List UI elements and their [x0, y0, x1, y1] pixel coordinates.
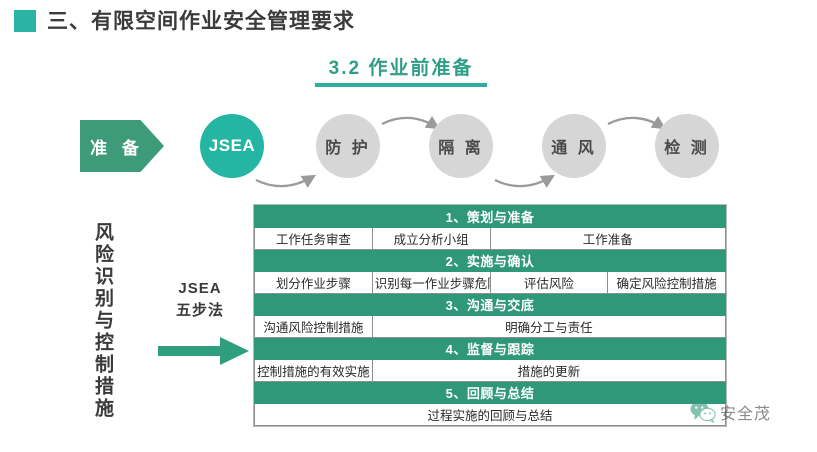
table-section-header-row: 4、监督与跟踪: [255, 338, 726, 360]
table-cell: 成立分析小组: [372, 228, 490, 250]
table-cell: 评估风险: [490, 272, 608, 294]
slide-canvas: 三、有限空间作业安全管理要求 3.2 作业前准备 准 备 JSEA 防 护 隔 …: [0, 0, 817, 452]
process-flow: 准 备 JSEA 防 护 隔 离 通 风 检 测: [0, 108, 817, 192]
table-cell: 沟通风险控制措施: [255, 316, 373, 338]
page-header: 三、有限空间作业安全管理要求: [14, 10, 355, 32]
table-row: 控制措施的有效实施措施的更新: [255, 360, 726, 382]
table-row: 工作任务审查成立分析小组工作准备: [255, 228, 726, 250]
table-row: 过程实施的回顾与总结: [255, 404, 726, 426]
curved-arrow-icon: [608, 118, 664, 128]
wechat-icon: [690, 401, 716, 423]
table-row: 沟通风险控制措施明确分工与责任: [255, 316, 726, 338]
right-arrow-icon: [158, 336, 250, 366]
table-cell: 控制措施的有效实施: [255, 360, 373, 382]
table-cell: 工作任务审查: [255, 228, 373, 250]
table-section-title: 3、沟通与交底: [255, 294, 726, 316]
subtitle-underline: [315, 83, 487, 87]
table-section-header-row: 5、回顾与总结: [255, 382, 726, 404]
table-row: 划分作业步骤识别每一作业步骤危险源评估风险确定风险控制措施: [255, 272, 726, 294]
table-section-title: 4、监督与跟踪: [255, 338, 726, 360]
table-cell: 确定风险控制措施: [608, 272, 726, 294]
table-section-title: 2、实施与确认: [255, 250, 726, 272]
table-section-header-row: 1、策划与准备: [255, 206, 726, 228]
table-section-header-row: 3、沟通与交底: [255, 294, 726, 316]
table-cell: 明确分工与责任: [372, 316, 725, 338]
table-cell: 工作准备: [490, 228, 726, 250]
jsea-method-label: JSEA 五步法: [152, 278, 248, 322]
curved-arrow-icon: [256, 176, 314, 186]
page-title: 三、有限空间作业安全管理要求: [47, 11, 355, 32]
jsea-method-line2: 五步法: [152, 300, 248, 322]
watermark-text: 安全茂: [720, 400, 771, 424]
flow-node-detection: 检 测: [655, 114, 719, 178]
table-section-header-row: 2、实施与确认: [255, 250, 726, 272]
table-cell: 识别每一作业步骤危险源: [372, 272, 490, 294]
flow-node-protection: 防 护: [316, 114, 380, 178]
curved-arrow-icon: [495, 176, 553, 186]
curved-arrow-icon: [382, 118, 438, 128]
vertical-caption: 风险识别与控制措施: [84, 222, 112, 420]
table-cell: 过程实施的回顾与总结: [255, 404, 726, 426]
table-cell: 划分作业步骤: [255, 272, 373, 294]
jsea-steps-table: 1、策划与准备工作任务审查成立分析小组工作准备2、实施与确认划分作业步骤识别每一…: [253, 204, 727, 427]
flow-node-ventilation: 通 风: [542, 114, 606, 178]
square-bullet-icon: [14, 10, 36, 32]
table-body: 1、策划与准备工作任务审查成立分析小组工作准备2、实施与确认划分作业步骤识别每一…: [254, 205, 726, 426]
table-cell: 措施的更新: [372, 360, 725, 382]
jsea-method-line1: JSEA: [152, 278, 248, 300]
section-subtitle: 3.2 作业前准备: [315, 58, 487, 87]
table-section-title: 1、策划与准备: [255, 206, 726, 228]
table-section-title: 5、回顾与总结: [255, 382, 726, 404]
flow-node-isolation: 隔 离: [429, 114, 493, 178]
flow-node-jsea: JSEA: [200, 114, 264, 178]
watermark: 安全茂: [690, 400, 771, 424]
section-subtitle-text: 3.2 作业前准备: [315, 58, 487, 80]
